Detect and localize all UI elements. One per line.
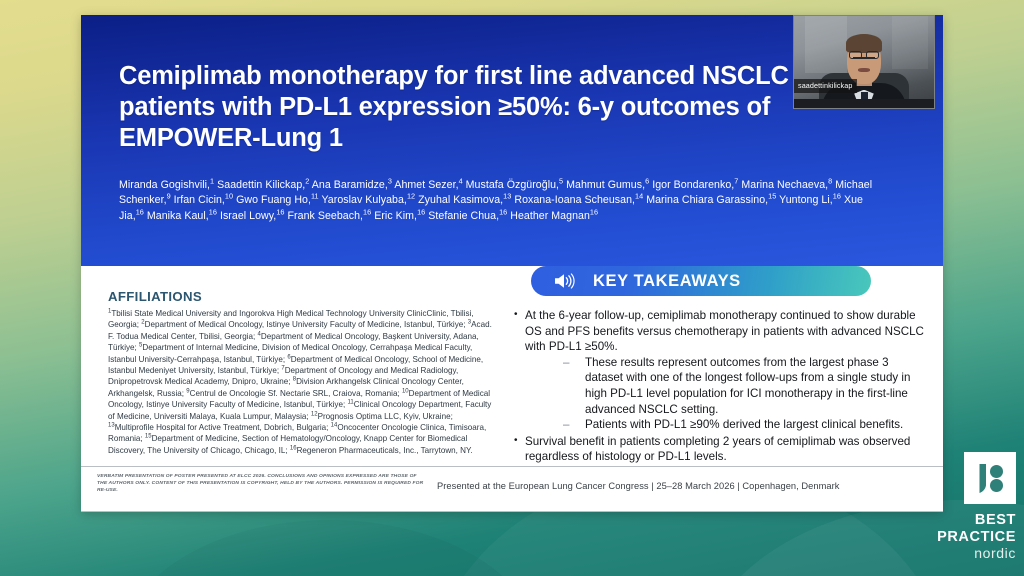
key-takeaway-subitem: Patients with PD-L1 ≥90% derived the lar… — [561, 417, 925, 433]
author-block: Miranda Gogishvili,1 Saadettin Kilickap,… — [119, 178, 884, 224]
video-wall-panel-secondary — [892, 16, 928, 69]
key-takeaways-section: KEY TAKEAWAYS At the 6-year follow-up, c… — [513, 266, 925, 466]
key-takeaway-item: Survival benefit in patients completing … — [513, 434, 925, 465]
affiliations-heading: AFFILIATIONS — [108, 289, 498, 304]
footer-disclaimer: VERBATIM PRESENTATION OF POSTER PRESENTE… — [97, 473, 427, 495]
slide-footer: VERBATIM PRESENTATION OF POSTER PRESENTE… — [81, 466, 943, 512]
key-takeaway-subitem: These results represent outcomes from th… — [561, 355, 925, 417]
brand-logo: BEST PRACTICE nordic — [908, 452, 1016, 562]
video-speaker-mouth — [858, 68, 871, 72]
megaphone-icon — [553, 272, 575, 290]
key-takeaway-text: Survival benefit in patients completing … — [525, 435, 910, 464]
video-bottom-bar — [794, 99, 934, 108]
key-takeaways-list: At the 6-year follow-up, cemiplimab mono… — [513, 308, 925, 465]
brand-line-2: PRACTICE — [908, 529, 1016, 546]
key-takeaways-label: KEY TAKEAWAYS — [593, 272, 741, 291]
key-takeaway-sublist: These results represent outcomes from th… — [525, 355, 925, 433]
screenshot-stage: Cemiplimab monotherapy for first line ad… — [0, 0, 1024, 576]
background-swoosh-3 — [120, 520, 540, 576]
affiliations-text: 1Tbilisi State Medical University and In… — [108, 308, 498, 456]
key-takeaway-item: At the 6-year follow-up, cemiplimab mono… — [513, 308, 925, 433]
brand-line-3: nordic — [908, 545, 1016, 562]
affiliations-section: AFFILIATIONS 1Tbilisi State Medical Univ… — [108, 289, 498, 456]
slide-title: Cemiplimab monotherapy for first line ad… — [119, 61, 879, 154]
key-takeaway-text: At the 6-year follow-up, cemiplimab mono… — [525, 309, 924, 353]
footer-presented-at: Presented at the European Lung Cancer Co… — [437, 481, 840, 491]
brand-line-1: BEST — [908, 512, 1016, 529]
title-block: Cemiplimab monotherapy for first line ad… — [119, 61, 879, 154]
slide-body: AFFILIATIONS 1Tbilisi State Medical Univ… — [81, 266, 943, 512]
best-practice-nordic-mark — [964, 452, 1016, 504]
video-participant-name: saadettinkilickap — [794, 79, 857, 93]
brand-glyph-icon — [964, 452, 1016, 504]
key-takeaways-banner: KEY TAKEAWAYS — [531, 266, 871, 296]
speaker-video-overlay[interactable]: saadettinkilickap — [793, 15, 935, 109]
video-speaker-glasses-bridge — [853, 57, 875, 58]
author-list: Miranda Gogishvili,1 Saadettin Kilickap,… — [119, 178, 884, 224]
video-wall-panel — [805, 16, 847, 73]
